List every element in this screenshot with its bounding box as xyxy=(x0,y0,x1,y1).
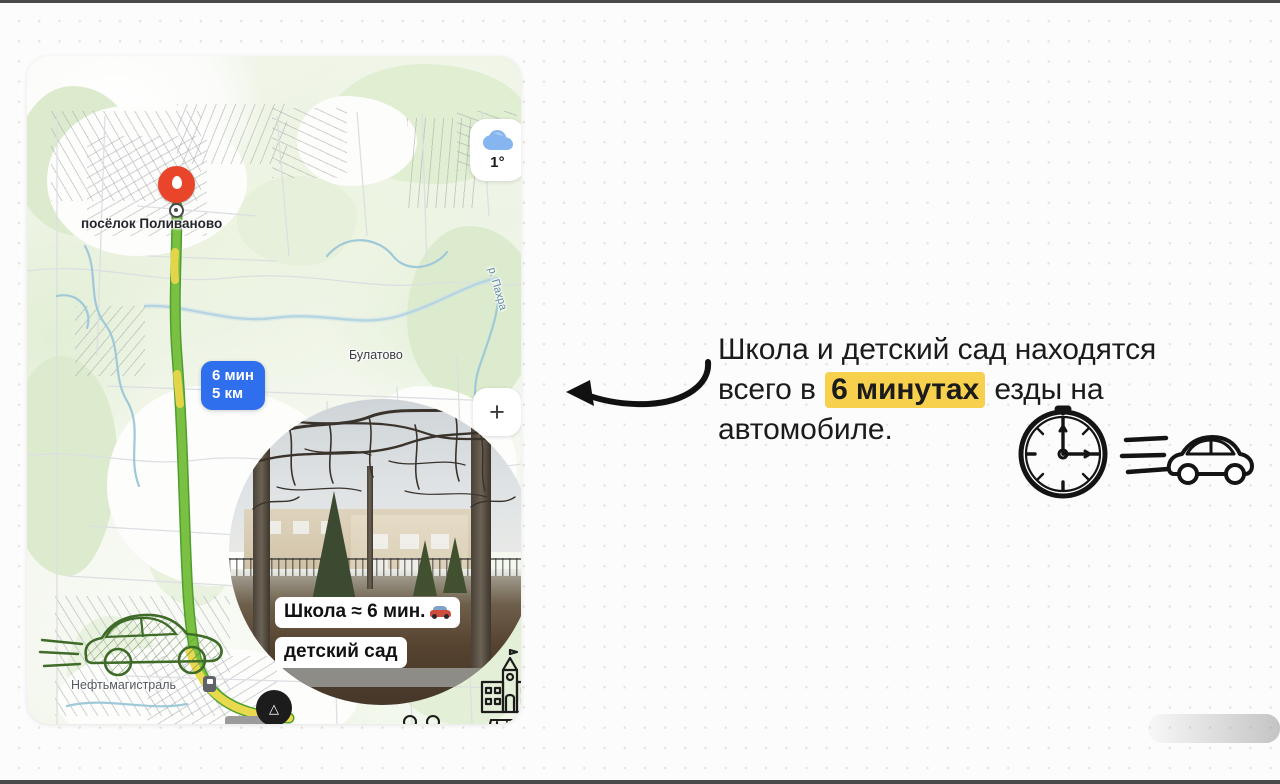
window-top-bar xyxy=(0,0,1280,3)
photo-chip-kindergarten: детский сад xyxy=(275,637,407,668)
car-icon xyxy=(430,606,451,619)
callout-line2-pre: всего в xyxy=(718,373,816,406)
callout-line-1: Школа и детский сад находятся xyxy=(718,330,1258,370)
photo-chip-school: Школа ≈ 6 мин. xyxy=(275,597,460,628)
cloud-icon xyxy=(482,130,514,152)
curved-arrow-icon xyxy=(556,360,716,412)
window-bottom-bar xyxy=(0,780,1280,784)
family-doodle xyxy=(397,714,469,724)
map-card[interactable]: посёлок Поливаново Булатово р. Пахра Неф… xyxy=(27,56,521,724)
swing-set-doodle xyxy=(479,714,521,724)
green-car-doodle xyxy=(40,594,240,684)
map-label-bulatovo: Булатово xyxy=(349,348,403,362)
route-duration: 6 мин xyxy=(212,367,254,385)
weather-temperature: 1° xyxy=(490,154,505,171)
photo-chip-school-text: Школа ≈ 6 мин. xyxy=(284,601,425,623)
stopwatch-and-car-doodle xyxy=(1016,404,1256,504)
school-building-doodle xyxy=(476,648,521,716)
callout-highlight: 6 минутах xyxy=(825,372,985,408)
callout-line2-post: езды на xyxy=(994,373,1103,406)
weather-widget[interactable]: 1° xyxy=(470,119,521,181)
map-label-village: посёлок Поливаново xyxy=(81,216,222,231)
horizontal-scrollbar[interactable] xyxy=(1148,714,1280,743)
